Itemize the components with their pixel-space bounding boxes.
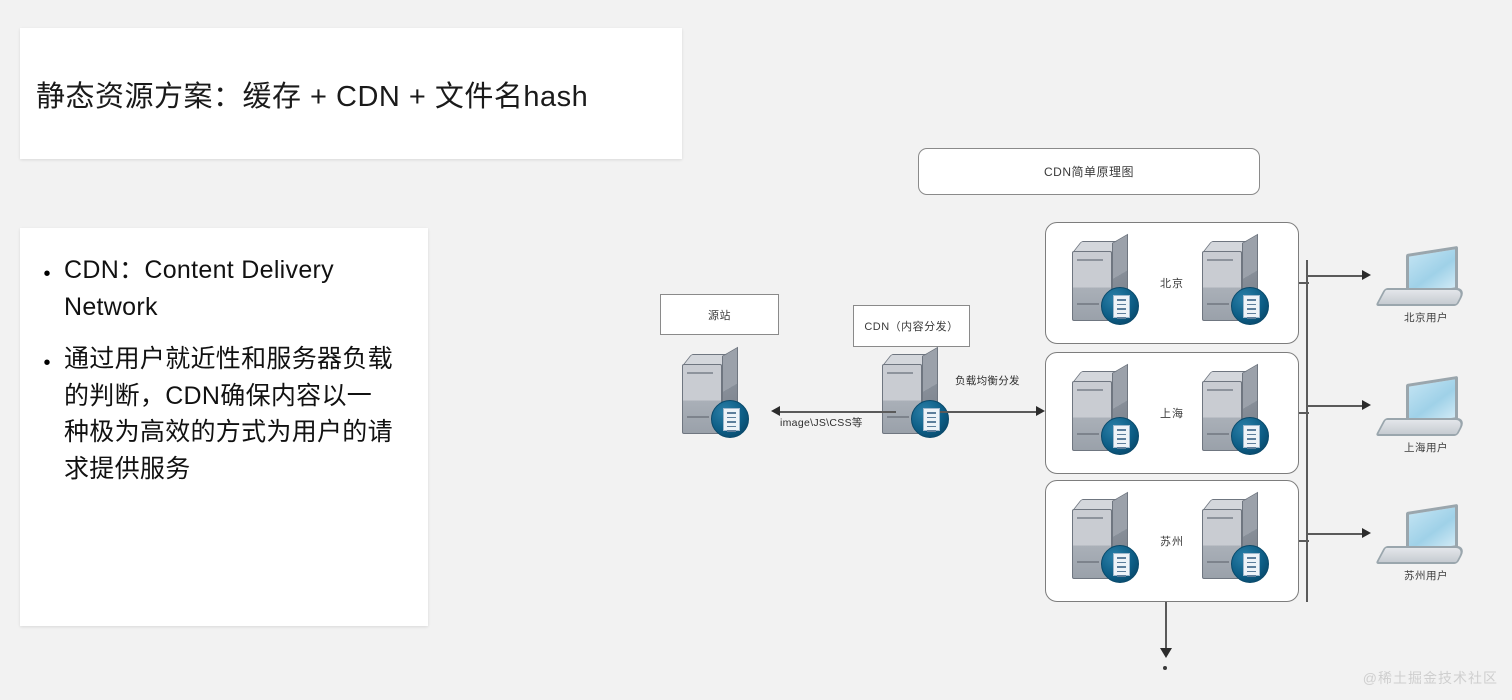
laptop-base-icon: [1375, 288, 1467, 306]
distribution-trunk-line: [1306, 260, 1308, 602]
laptop-base-icon: [1375, 418, 1467, 436]
balance-flow-label: 负载均衡分发: [955, 373, 1020, 388]
balance-flow-line: [940, 411, 1036, 413]
extra-branch-arrowhead: [1160, 648, 1172, 658]
cluster-server-icon: [1068, 239, 1140, 331]
cluster-trunk-stub: [1299, 540, 1309, 542]
user-laptop-suzhou: 苏州用户: [1380, 508, 1472, 574]
title-card: 静态资源方案：缓存 + CDN + 文件名hash: [20, 28, 682, 159]
bullet-text: 通过用户就近性和服务器负载的判断，CDN确保内容以一种极为高效的方式为用户的请求…: [64, 341, 394, 487]
page-title: 静态资源方案：缓存 + CDN + 文件名hash: [20, 73, 588, 115]
user-laptop-beijing: 北京用户: [1380, 250, 1472, 316]
extra-branch-dot: [1163, 666, 1167, 670]
user-label: 上海用户: [1380, 440, 1472, 455]
list-item: • CDN：Content Delivery Network: [30, 252, 414, 325]
cdn-distribution-label: CDN（内容分发）: [864, 318, 958, 334]
diagram-title-text: CDN简单原理图: [1044, 163, 1134, 180]
bullet-list: • CDN：Content Delivery Network • 通过用户就近性…: [30, 252, 414, 487]
list-item: • 通过用户就近性和服务器负载的判断，CDN确保内容以一种极为高效的方式为用户的…: [30, 341, 414, 487]
assets-flow-arrowhead: [771, 406, 780, 416]
bullet-dot-icon: •: [30, 252, 64, 296]
balance-flow-arrowhead: [1036, 406, 1045, 416]
cluster-trunk-stub: [1299, 412, 1309, 414]
cluster-label: 苏州: [1160, 533, 1184, 549]
bullet-dot-icon: •: [30, 341, 64, 385]
bullet-text: CDN：Content Delivery Network: [64, 252, 394, 325]
origin-site-box: 源站: [660, 294, 779, 335]
assets-flow-line: [780, 411, 896, 413]
cluster-shanghai: 上海: [1045, 352, 1299, 474]
cdn-server-icon: [878, 352, 950, 444]
user-link-line: [1306, 405, 1364, 407]
user-link-line: [1306, 275, 1364, 277]
user-link-arrowhead: [1362, 270, 1371, 280]
slide-page: 静态资源方案：缓存 + CDN + 文件名hash • CDN：Content …: [0, 0, 1512, 700]
cluster-server-icon: [1198, 497, 1270, 589]
cluster-label: 上海: [1160, 405, 1184, 421]
cluster-beijing: 北京: [1045, 222, 1299, 344]
user-link-arrowhead: [1362, 528, 1371, 538]
origin-site-label: 源站: [708, 307, 731, 323]
origin-server-icon: [678, 352, 750, 444]
cluster-server-icon: [1198, 239, 1270, 331]
laptop-base-icon: [1375, 546, 1467, 564]
extra-branch-line: [1165, 602, 1167, 650]
cluster-server-icon: [1198, 369, 1270, 461]
cluster-server-icon: [1068, 497, 1140, 589]
user-laptop-shanghai: 上海用户: [1380, 380, 1472, 446]
cdn-diagram: CDN简单原理图 源站 CDN（内容分发） image\JS\CSS等 负载均衡…: [640, 130, 1512, 690]
watermark: @稀土掘金技术社区: [1363, 668, 1498, 688]
cluster-server-icon: [1068, 369, 1140, 461]
user-label: 苏州用户: [1380, 568, 1472, 583]
user-link-arrowhead: [1362, 400, 1371, 410]
cluster-label: 北京: [1160, 275, 1184, 291]
cluster-suzhou: 苏州: [1045, 480, 1299, 602]
diagram-title-box: CDN简单原理图: [918, 148, 1260, 195]
bullet-list-card: • CDN：Content Delivery Network • 通过用户就近性…: [20, 228, 428, 626]
user-label: 北京用户: [1380, 310, 1472, 325]
assets-flow-label: image\JS\CSS等: [780, 415, 863, 430]
cluster-trunk-stub: [1299, 282, 1309, 284]
cdn-distribution-box: CDN（内容分发）: [853, 305, 970, 347]
user-link-line: [1306, 533, 1364, 535]
